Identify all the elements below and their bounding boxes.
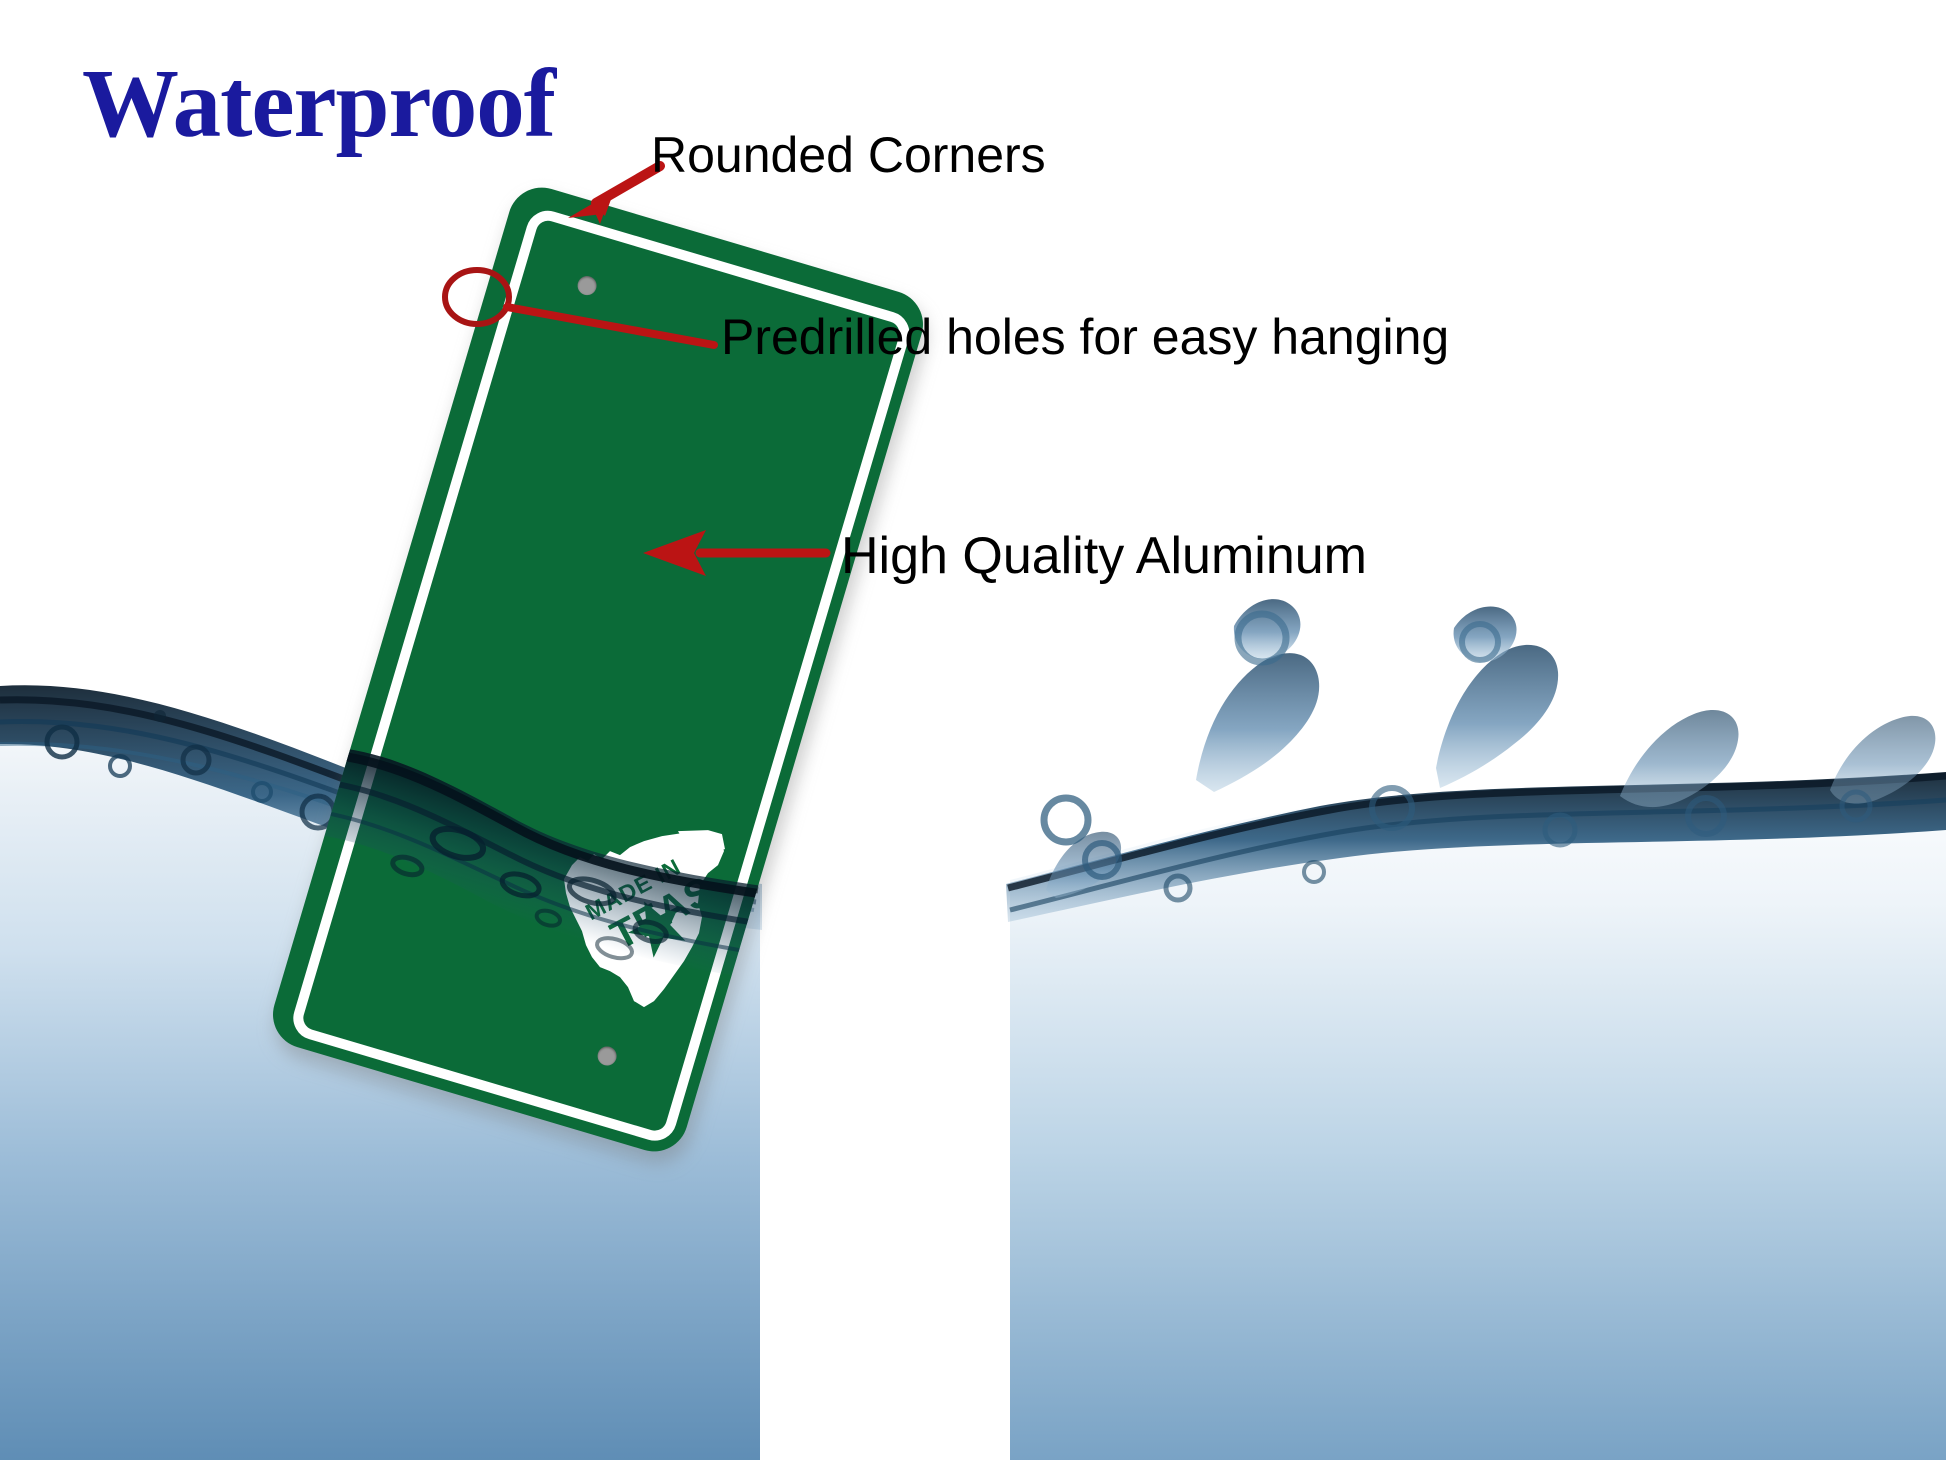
- made-in-texas-logo: MADE IN TE AS: [558, 821, 736, 1011]
- annotation-arrows: [0, 0, 1946, 1460]
- water-surface-right: [1006, 599, 1946, 922]
- annotation-label-predrilled-holes: Predrilled holes for easy hanging: [721, 308, 1449, 366]
- water-background: [0, 0, 1946, 1460]
- infographic-canvas: Waterproof MADE IN TE AS: [0, 0, 1946, 1460]
- annotation-label-high-quality-aluminum: High Quality Aluminum: [841, 526, 1367, 586]
- annotation-label-rounded-corners: Rounded Corners: [651, 126, 1046, 184]
- water-body-right: [1000, 760, 1946, 1460]
- page-title: Waterproof: [82, 48, 555, 159]
